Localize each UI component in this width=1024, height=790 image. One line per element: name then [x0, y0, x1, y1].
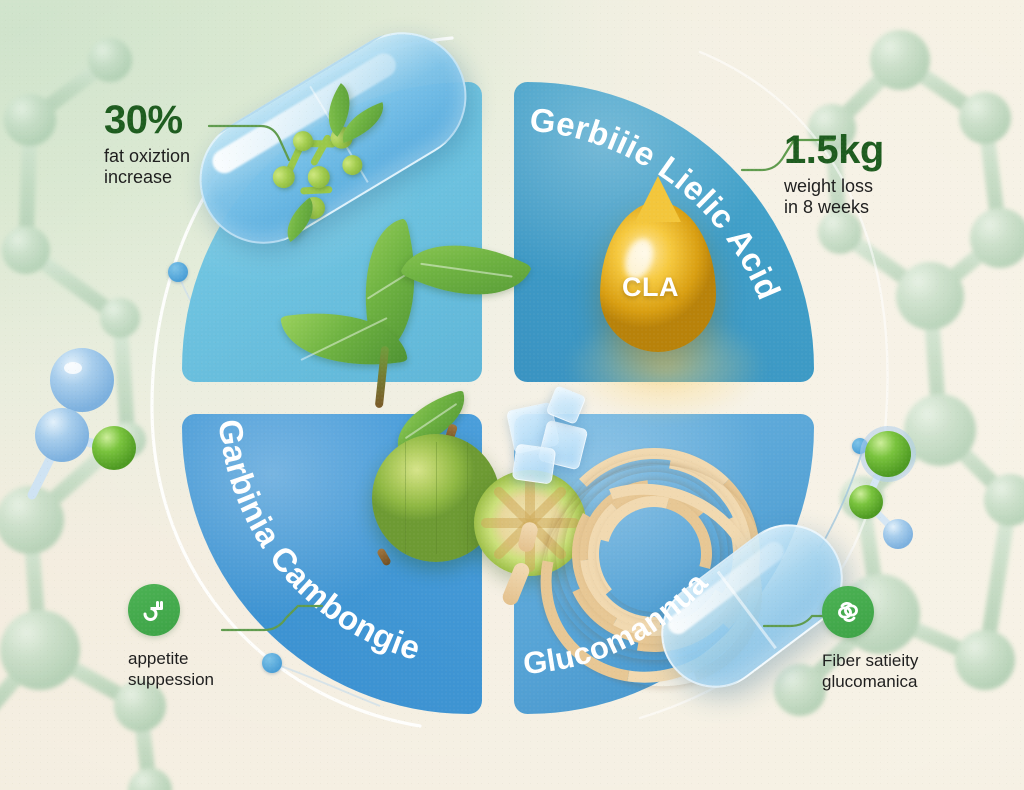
grain-overlay: [0, 0, 1024, 790]
infographic-canvas: CLA: [0, 0, 1024, 790]
